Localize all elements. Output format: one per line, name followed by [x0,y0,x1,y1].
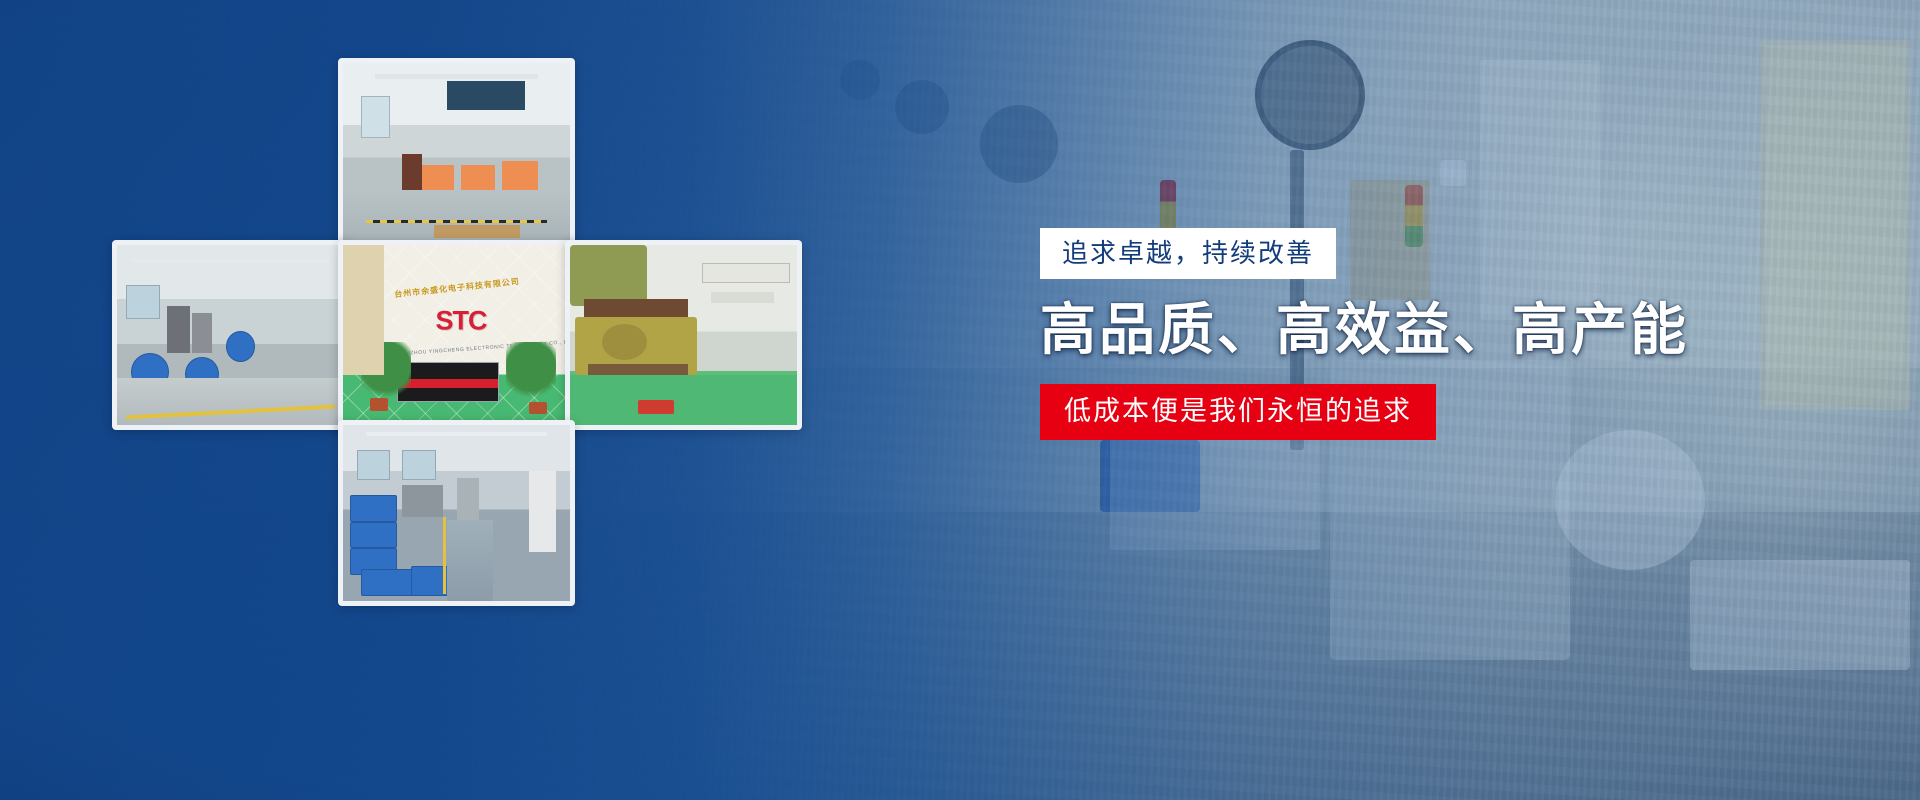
collage-photo-top [338,58,575,250]
sub-banner-badge: 低成本便是我们永恒的追求 [1040,384,1436,440]
collage-photo-bottom [338,420,575,606]
collage-photo-right [565,240,802,430]
page-title: 高品质、高效益、高产能 [1040,299,1689,362]
stc-logo: STC [436,305,487,336]
hero-banner: 台州市余盛化电子科技有限公司 STC TAIZHOU YINGCHENG ELE… [0,0,1920,800]
photo-collage: 台州市余盛化电子科技有限公司 STC TAIZHOU YINGCHENG ELE… [0,0,820,800]
collage-photo-left [112,240,349,430]
collage-photo-center: 台州市余盛化电子科技有限公司 STC TAIZHOU YINGCHENG ELE… [338,240,575,430]
hero-text-block: 追求卓越，持续改善 高品质、高效益、高产能 低成本便是我们永恒的追求 [1040,228,1689,440]
eyebrow-badge: 追求卓越，持续改善 [1040,228,1336,279]
